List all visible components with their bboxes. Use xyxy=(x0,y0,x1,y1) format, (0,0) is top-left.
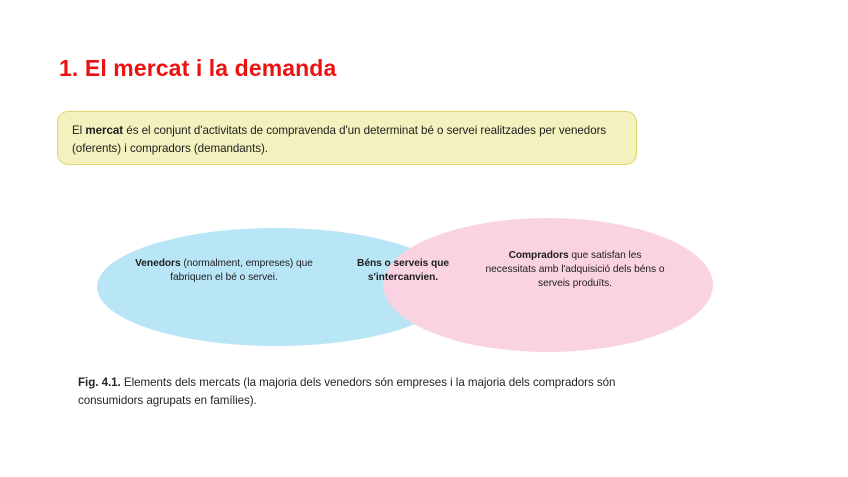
definition-term: mercat xyxy=(85,124,123,137)
definition-lead: El xyxy=(72,124,85,137)
definition-callout-box: El mercat és el conjunt d'activitats de … xyxy=(57,111,637,165)
page-title: 1. El mercat i la demanda xyxy=(59,55,336,82)
definition-text: El mercat és el conjunt d'activitats de … xyxy=(72,122,622,157)
venn-label-goods: Béns o serveis que s'intercanvien. xyxy=(333,257,473,285)
figure-caption-text: Elements dels mercats (la majoria dels v… xyxy=(78,376,615,407)
venn-diagram: Venedors (normalment, empreses) que fabr… xyxy=(80,205,740,365)
definition-body: és el conjunt d'activitats de compravend… xyxy=(72,124,606,155)
venn-label-buyers: Compradors que satisfan les necessitats … xyxy=(484,249,666,292)
venn-label-buyers-term: Compradors xyxy=(509,250,569,261)
figure-caption: Fig. 4.1. Elements dels mercats (la majo… xyxy=(78,374,678,410)
venn-label-sellers-text: (normalment, empreses) que fabriquen el … xyxy=(170,258,313,283)
venn-label-sellers: Venedors (normalment, empreses) que fabr… xyxy=(135,257,313,285)
figure-caption-label: Fig. 4.1. xyxy=(78,376,121,389)
venn-label-sellers-term: Venedors xyxy=(135,258,180,269)
